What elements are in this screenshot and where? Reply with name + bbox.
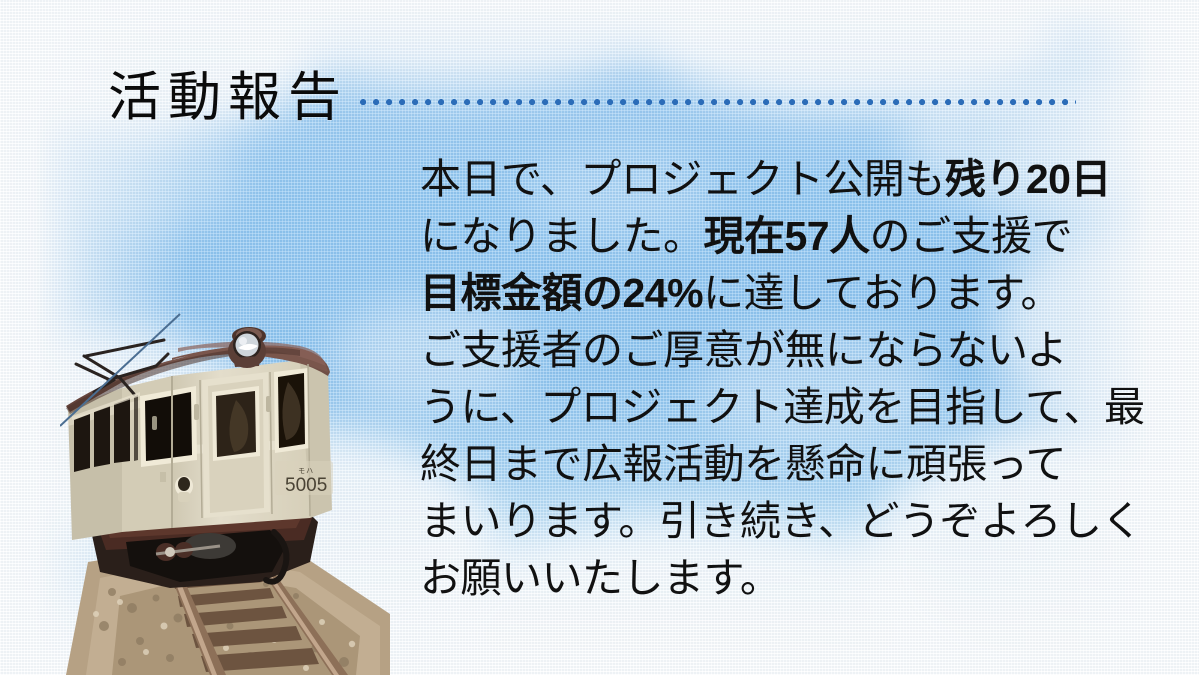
report-emphasis: 現在57人 xyxy=(704,213,870,259)
train-front-window-right xyxy=(274,368,310,453)
train-car-number: 5005 xyxy=(285,476,327,495)
page-title: 活動報告 xyxy=(108,72,348,125)
report-text: 終日まで広報活動を懸命に頑張って xyxy=(420,441,1066,487)
report-emphasis: 目標金額の24% xyxy=(420,270,703,316)
train-svg xyxy=(60,296,390,675)
report-text: になりました。 xyxy=(420,213,704,259)
report-line: まいります。引き続き、どうぞよろしく xyxy=(420,493,1100,550)
train-front-door xyxy=(202,372,270,518)
train-illustration xyxy=(60,296,390,675)
report-line: 目標金額の24%に達しております。 xyxy=(420,265,1100,322)
report-text: に達しております。 xyxy=(703,270,1061,316)
report-text: 本日で、プロジェクト公開も xyxy=(420,156,945,202)
report-body-text: 本日で、プロジェクト公開も残り20日になりました。現在57人のご支援で目標金額の… xyxy=(420,151,1100,607)
train-front-window-left xyxy=(140,385,199,467)
report-text: お願いいたします。 xyxy=(420,555,780,601)
dotted-divider xyxy=(360,99,1076,107)
headlight-icon xyxy=(228,327,266,368)
report-emphasis: 残り20日 xyxy=(945,156,1111,202)
report-text: まいります。引き続き、どうぞよろしく xyxy=(420,498,1142,544)
report-text: のご支援で xyxy=(870,213,1073,259)
activity-report-card: モハ 5005 活動報告 本日で、プロジェクト公開も残り20日になりました。現在… xyxy=(0,0,1199,675)
report-text: うに、プロジェクト達成を目指して、最 xyxy=(420,384,1145,430)
report-text: ご支援者のご厚意が無にならないよ xyxy=(420,327,1067,373)
report-line: ご支援者のご厚意が無にならないよ xyxy=(420,322,1100,379)
train-car-class: モハ xyxy=(285,468,327,475)
report-line: うに、プロジェクト達成を目指して、最 xyxy=(420,379,1100,436)
report-line: になりました。現在57人のご支援で xyxy=(420,208,1100,265)
report-line: 終日まで広報活動を懸命に頑張って xyxy=(420,436,1100,493)
report-line: 本日で、プロジェクト公開も残り20日 xyxy=(420,151,1100,208)
train-number-plate-text: モハ 5005 xyxy=(285,468,327,495)
report-line: お願いいたします。 xyxy=(420,550,1100,607)
